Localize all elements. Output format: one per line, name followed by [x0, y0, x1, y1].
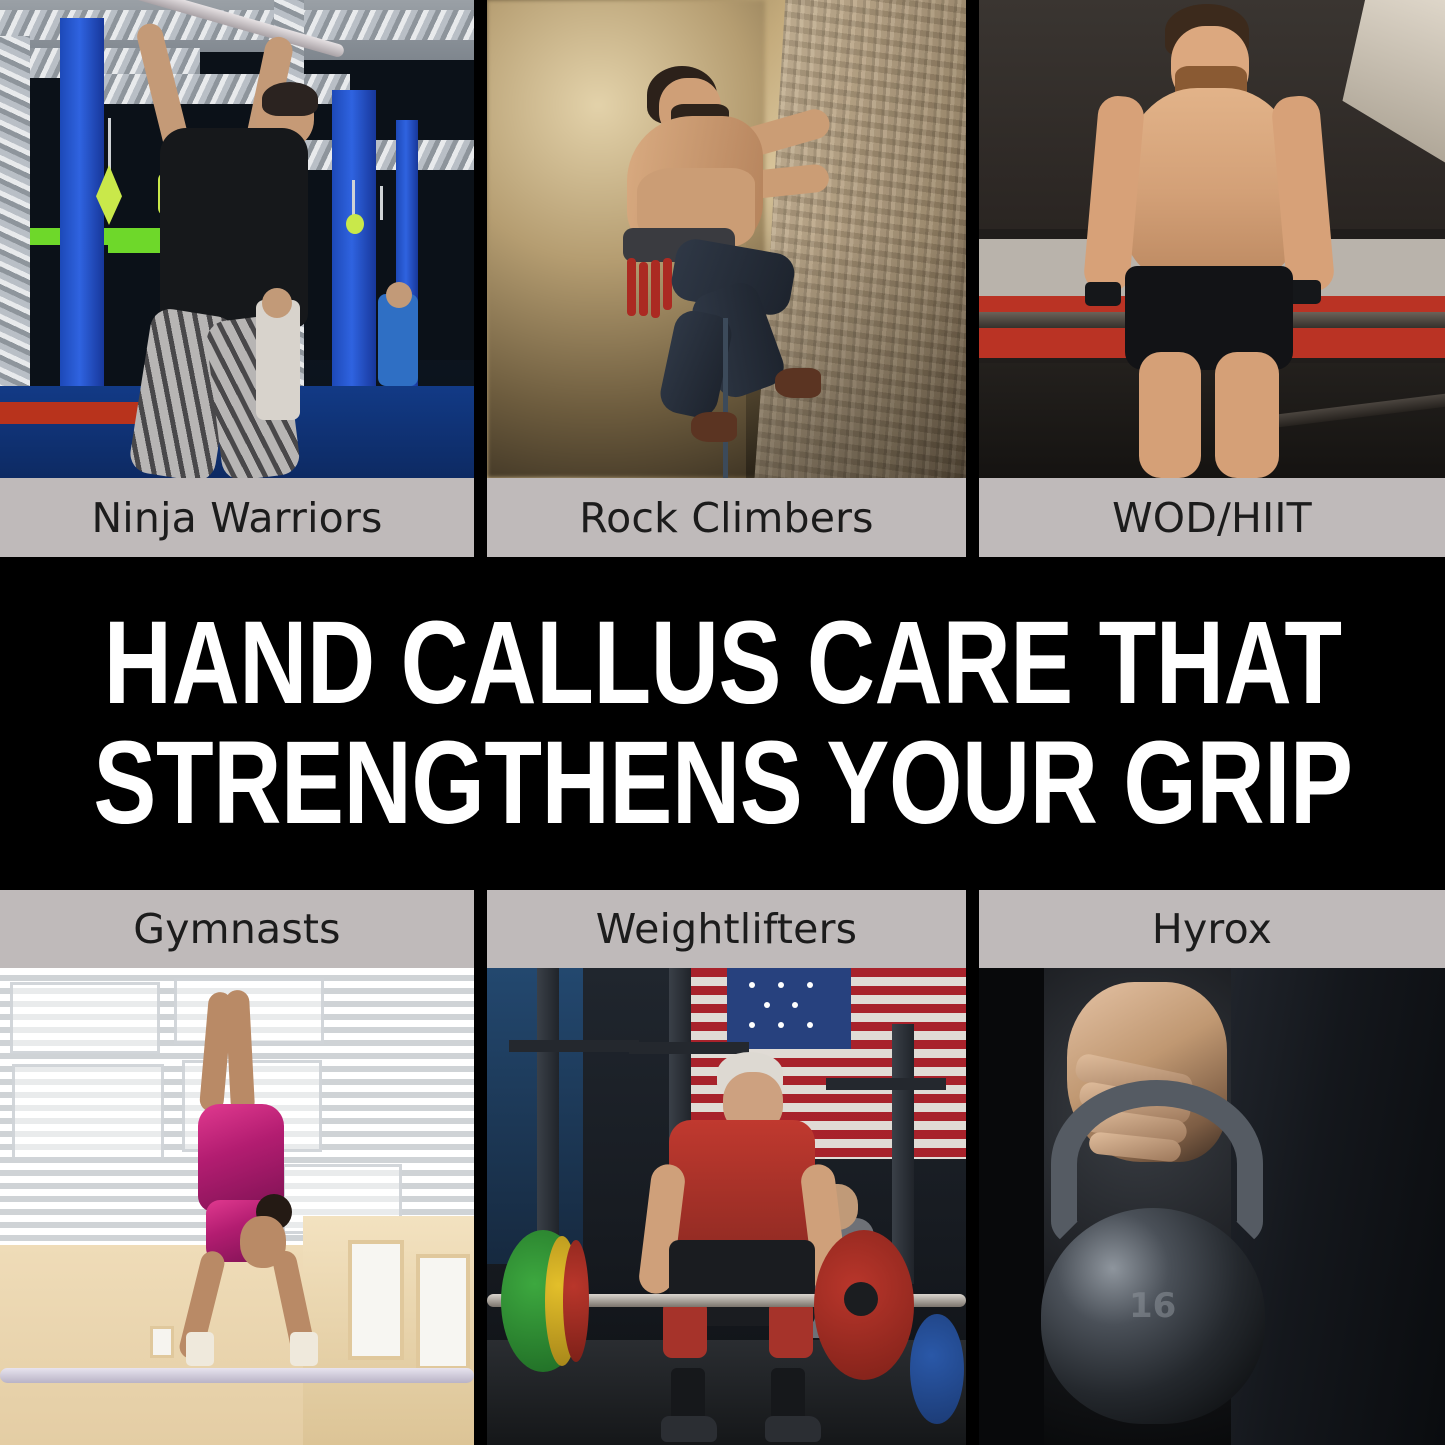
kettlebell-weight-label: 16 [1129, 1286, 1176, 1326]
caption-rock-climbers: Rock Climbers [487, 478, 966, 557]
headline-block: HAND CALLUS CARE THAT STRENGTHENS YOUR G… [0, 557, 1445, 890]
caption-divider [474, 890, 487, 968]
ninja-warrior-pullup-photo [0, 0, 474, 478]
caption-gymnasts: Gymnasts [0, 890, 474, 968]
column-divider [474, 968, 487, 1445]
rock-climber-photo [487, 0, 966, 478]
column-divider [474, 0, 487, 478]
gymnast-uneven-bar-photo [0, 968, 474, 1445]
bar-muscle-up-photo [979, 0, 1445, 478]
column-divider [966, 968, 979, 1445]
column-divider [966, 0, 979, 478]
headline-line-2: STRENGTHENS YOUR GRIP [93, 726, 1352, 842]
bottom-image-row: 16 [0, 968, 1445, 1445]
caption-hyrox: Hyrox [979, 890, 1445, 968]
top-image-row [0, 0, 1445, 478]
caption-ninja-warriors: Ninja Warriors [0, 478, 474, 557]
kettlebell-grip-photo: 16 [979, 968, 1445, 1445]
caption-divider [966, 478, 979, 557]
top-caption-band: Ninja Warriors Rock Climbers WOD/HIIT [0, 478, 1445, 557]
caption-divider [966, 890, 979, 968]
caption-weightlifters: Weightlifters [487, 890, 966, 968]
caption-divider [474, 478, 487, 557]
bottom-caption-band: Gymnasts Weightlifters Hyrox [0, 890, 1445, 968]
poster-root: Ninja Warriors Rock Climbers WOD/HIIT HA… [0, 0, 1445, 1445]
headline-line-1: HAND CALLUS CARE THAT [104, 606, 1342, 722]
weightlifter-deadlift-photo [487, 968, 966, 1445]
caption-wod-hiit: WOD/HIIT [979, 478, 1445, 557]
